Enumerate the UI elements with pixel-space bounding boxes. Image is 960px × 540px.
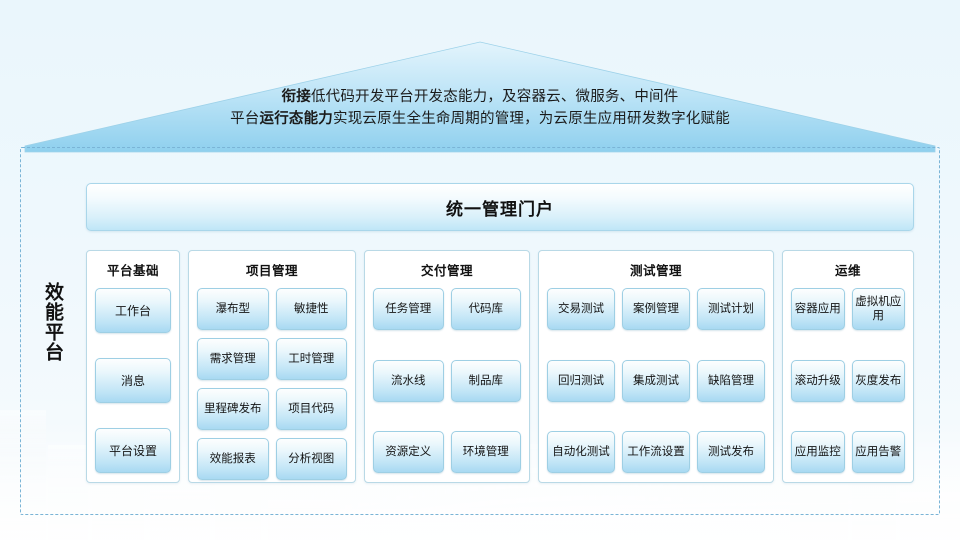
tile-item[interactable]: 效能报表 — [197, 438, 269, 480]
column-tile-grid: 工作台 消息 平台设置 — [95, 288, 171, 473]
column-title: 项目管理 — [197, 260, 347, 279]
platform-side-label: 效能平台 — [34, 282, 64, 362]
tile-item[interactable]: 流水线 — [373, 360, 444, 402]
tile-item[interactable]: 应用告警 — [852, 431, 906, 473]
tile-item[interactable]: 集成测试 — [622, 360, 690, 402]
column-project-management: 项目管理 瀑布型 敏捷性 需求管理 工时管理 里程碑发布 项目代码 效能报表 分… — [188, 250, 356, 483]
tile-item[interactable]: 测试发布 — [697, 431, 765, 473]
tile-item[interactable]: 自动化测试 — [547, 431, 615, 473]
tile-item[interactable]: 资源定义 — [373, 431, 444, 473]
unified-management-portal-title: 统一管理门户 — [446, 195, 554, 220]
tile-item[interactable]: 制品库 — [451, 360, 522, 402]
roof-caption-line-2: 平台运行态能力实现云原生全生命周期的管理，为云原生应用研发数字化赋能 — [0, 108, 960, 130]
tile-item[interactable]: 回归测试 — [547, 360, 615, 402]
column-delivery-management: 交付管理 任务管理 代码库 流水线 制品库 资源定义 环境管理 — [364, 250, 530, 483]
tile-item[interactable]: 代码库 — [451, 288, 522, 330]
capability-columns: 平台基础 工作台 消息 平台设置 项目管理 瀑布型 敏捷性 需求管理 工时管理 … — [86, 250, 914, 483]
roof-caption-line-2-rest: 实现云原生全生命周期的管理，为云原生应用研发数字化赋能 — [333, 111, 730, 127]
column-title: 测试管理 — [547, 260, 765, 279]
tile-item[interactable]: 灰度发布 — [852, 360, 906, 402]
roof-caption-line-1-bold: 衔接 — [282, 89, 311, 105]
tile-item[interactable]: 工作流设置 — [622, 431, 690, 473]
tile-item[interactable]: 虚拟机应用 — [852, 288, 906, 330]
column-tile-grid: 任务管理 代码库 流水线 制品库 资源定义 环境管理 — [373, 288, 521, 473]
tile-item[interactable]: 环境管理 — [451, 431, 522, 473]
tile-item[interactable]: 交易测试 — [547, 288, 615, 330]
tile-item[interactable]: 案例管理 — [622, 288, 690, 330]
tile-item[interactable]: 里程碑发布 — [197, 388, 269, 430]
roof-caption-line-1: 衔接低代码开发平台开发态能力，及容器云、微服务、中间件 — [0, 86, 960, 108]
roof-caption-line-2-bold: 运行态能力 — [260, 111, 334, 127]
roof-caption: 衔接低代码开发平台开发态能力，及容器云、微服务、中间件 平台运行态能力实现云原生… — [0, 86, 960, 130]
diagram-canvas: 衔接低代码开发平台开发态能力，及容器云、微服务、中间件 平台运行态能力实现云原生… — [0, 0, 960, 540]
column-tile-grid: 瀑布型 敏捷性 需求管理 工时管理 里程碑发布 项目代码 效能报表 分析视图 — [197, 288, 347, 480]
tile-item[interactable]: 测试计划 — [697, 288, 765, 330]
tile-item[interactable]: 缺陷管理 — [697, 360, 765, 402]
tile-item[interactable]: 分析视图 — [276, 438, 348, 480]
tile-item[interactable]: 滚动升级 — [791, 360, 845, 402]
tile-item[interactable]: 平台设置 — [95, 428, 171, 473]
tile-item[interactable]: 工时管理 — [276, 338, 348, 380]
roof-caption-line-1-rest: 低代码开发平台开发态能力，及容器云、微服务、中间件 — [311, 89, 679, 105]
tile-item[interactable]: 工作台 — [95, 288, 171, 333]
column-tile-grid: 容器应用 虚拟机应用 滚动升级 灰度发布 应用监控 应用告警 — [791, 288, 905, 473]
tile-item[interactable]: 容器应用 — [791, 288, 845, 330]
column-title: 运维 — [791, 260, 905, 279]
column-title: 交付管理 — [373, 260, 521, 279]
tile-item[interactable]: 项目代码 — [276, 388, 348, 430]
column-tile-grid: 交易测试 案例管理 测试计划 回归测试 集成测试 缺陷管理 自动化测试 工作流设… — [547, 288, 765, 473]
unified-management-portal-banner[interactable]: 统一管理门户 — [86, 183, 914, 231]
tile-item[interactable]: 消息 — [95, 358, 171, 403]
tile-item[interactable]: 敏捷性 — [276, 288, 348, 330]
tile-item[interactable]: 需求管理 — [197, 338, 269, 380]
column-platform-basics: 平台基础 工作台 消息 平台设置 — [86, 250, 180, 483]
column-title: 平台基础 — [95, 260, 171, 279]
column-operations: 运维 容器应用 虚拟机应用 滚动升级 灰度发布 应用监控 应用告警 — [782, 250, 914, 483]
tile-item[interactable]: 任务管理 — [373, 288, 444, 330]
column-test-management: 测试管理 交易测试 案例管理 测试计划 回归测试 集成测试 缺陷管理 自动化测试… — [538, 250, 774, 483]
roof-caption-line-2-pre: 平台 — [230, 111, 259, 127]
tile-item[interactable]: 瀑布型 — [197, 288, 269, 330]
tile-item[interactable]: 应用监控 — [791, 431, 845, 473]
